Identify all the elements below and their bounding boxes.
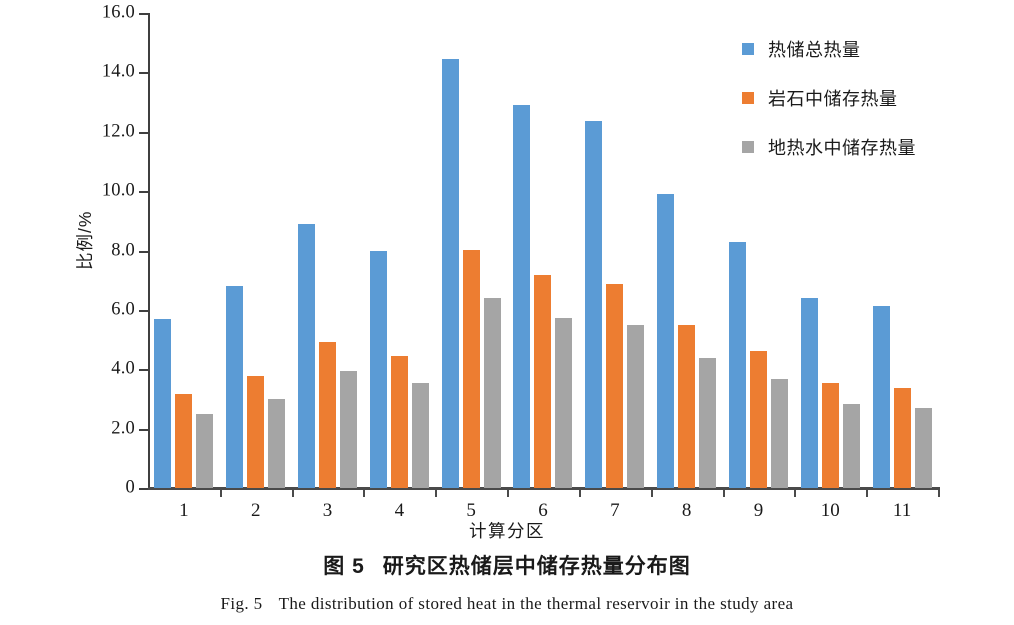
bar-group [292,13,364,488]
bar [268,399,285,488]
bar-group [435,13,507,488]
y-tick-label: 14.0 [102,62,135,83]
legend-swatch-icon [742,43,754,55]
x-tick-mark [938,490,940,497]
x-tick-mark [866,490,868,497]
x-tick-mark [651,490,653,497]
bar [319,342,336,488]
bar [627,325,644,488]
bar [484,298,501,488]
bar [894,388,911,488]
bar [771,379,788,488]
y-tick-mark [139,488,148,490]
legend-label: 岩石中储存热量 [768,85,898,111]
y-tick-label: 8.0 [111,240,135,261]
bar-group [220,13,292,488]
legend-item[interactable]: 地热水中储存热量 [742,134,916,160]
bar [442,59,459,488]
y-tick-mark [139,132,148,134]
y-tick-label: 4.0 [111,359,135,380]
y-tick-label: 10.0 [102,181,135,202]
bar [750,351,767,488]
bar [463,250,480,488]
bar [154,319,171,488]
bar [247,376,264,488]
y-tick-mark [139,72,148,74]
bar [657,194,674,488]
bar [298,224,315,488]
legend-item[interactable]: 热储总热量 [742,36,916,62]
bar [678,325,695,488]
x-tick-mark [363,490,365,497]
x-tick-mark [507,490,509,497]
legend-item[interactable]: 岩石中储存热量 [742,85,916,111]
y-axis-title: 比例/% [72,211,97,270]
chart-legend: 热储总热量岩石中储存热量地热水中储存热量 [742,36,916,183]
caption-english-number: Fig. 5 [221,594,263,613]
y-tick-mark [139,429,148,431]
x-tick-mark [220,490,222,497]
y-tick-mark [139,13,148,15]
bar [699,358,716,488]
x-axis-title: 计算分区 [0,518,1014,543]
y-tick-label: 6.0 [111,299,135,320]
bar [555,318,572,488]
x-tick-mark [292,490,294,497]
bar [370,251,387,489]
bar [412,383,429,488]
bar-group [651,13,723,488]
caption-chinese: 图 5研究区热储层中储存热量分布图 [0,550,1014,580]
bar [729,242,746,488]
caption-chinese-number: 图 5 [323,555,365,578]
x-tick-mark [723,490,725,497]
y-tick-label: 12.0 [102,121,135,142]
caption-english-text: The distribution of stored heat in the t… [279,594,794,613]
y-tick-mark [139,191,148,193]
bar [534,275,551,488]
bar-group [363,13,435,488]
bar [340,371,357,488]
bar [915,408,932,488]
x-tick-mark [794,490,796,497]
x-tick-mark [435,490,437,497]
bar [226,286,243,488]
bar-group [579,13,651,488]
caption-english: Fig. 5The distribution of stored heat in… [0,594,1014,614]
bar [843,404,860,488]
bar [513,105,530,488]
y-tick-label: 2.0 [111,418,135,439]
bar [391,356,408,488]
figure-container: 02.04.06.08.010.012.014.016.0 1234567891… [0,0,1014,625]
bar [822,383,839,488]
bar [585,121,602,488]
bar [175,394,192,488]
legend-label: 热储总热量 [768,36,861,62]
legend-swatch-icon [742,92,754,104]
bar-group [507,13,579,488]
y-tick-mark [139,251,148,253]
legend-label: 地热水中储存热量 [768,134,916,160]
y-tick-label: 0 [126,478,135,499]
legend-swatch-icon [742,141,754,153]
y-tick-mark [139,369,148,371]
y-tick-mark [139,310,148,312]
bar [196,414,213,488]
bar [801,298,818,488]
bar [873,306,890,488]
caption-chinese-text: 研究区热储层中储存热量分布图 [383,555,691,578]
x-tick-mark [579,490,581,497]
y-tick-label: 16.0 [102,3,135,24]
bar [606,284,623,488]
bar-group [148,13,220,488]
